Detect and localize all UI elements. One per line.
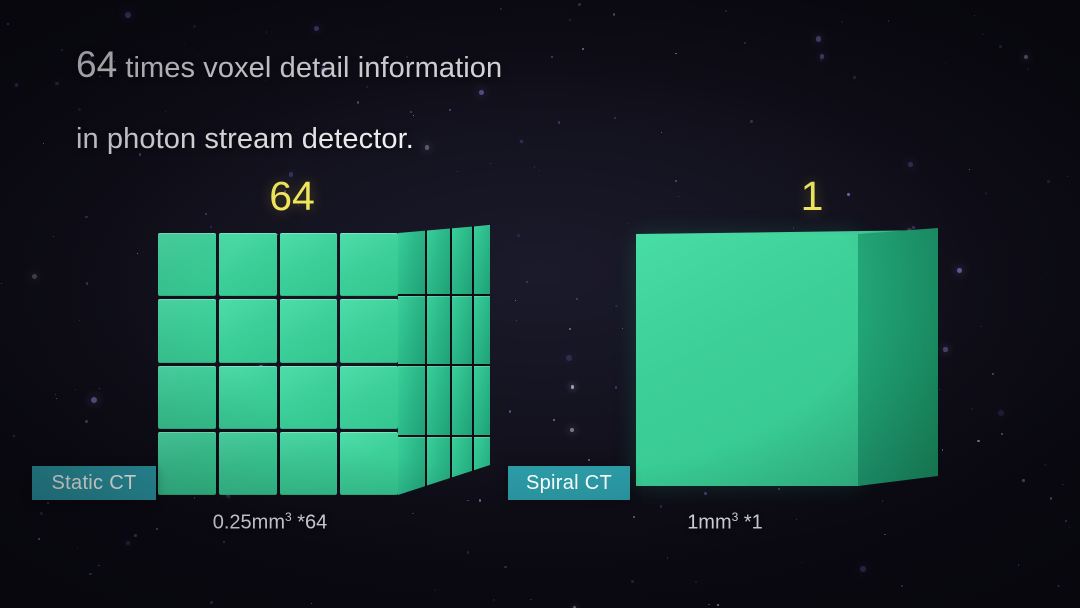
background-particle (56, 398, 57, 399)
background-particle (675, 180, 678, 183)
page-title: 64 times voxel detail information in pho… (76, 32, 696, 172)
voxel-cell-side (452, 366, 471, 435)
background-particle (622, 328, 623, 329)
headline-line-2: in photon stream detector. (76, 106, 696, 172)
background-particle (53, 236, 55, 238)
background-particle (820, 59, 822, 61)
background-particle (566, 355, 572, 361)
background-particle (98, 565, 99, 566)
background-particle (77, 547, 78, 548)
background-particle (1057, 585, 1060, 588)
background-particle (999, 45, 1002, 48)
caption-left: 0.25mm3 *64 (170, 510, 370, 535)
background-particle (530, 599, 532, 601)
voxel-cell-side (474, 437, 490, 506)
background-particle (998, 410, 1004, 416)
background-particle (89, 573, 92, 576)
background-particle (61, 49, 63, 51)
voxel-cell-side (452, 296, 471, 365)
background-particle (99, 388, 100, 389)
background-particle (992, 373, 994, 375)
voxel-cell-front (158, 432, 216, 495)
voxel-cell-front (280, 432, 338, 495)
background-particle (750, 120, 753, 123)
voxel-cell-front (158, 366, 216, 429)
voxel-cell-side (452, 437, 471, 506)
voxel-count-right: 1 (757, 173, 867, 220)
background-particle (553, 419, 555, 421)
background-particle (1022, 479, 1025, 482)
background-particle (613, 13, 616, 16)
background-particle (223, 541, 225, 543)
background-particle (678, 196, 679, 197)
background-particle (86, 282, 88, 284)
background-particle (985, 192, 988, 195)
voxel-cell-front (340, 233, 398, 296)
background-particle (1062, 484, 1064, 486)
voxel-cell-side (398, 225, 425, 294)
background-particle (578, 3, 581, 6)
background-particle (570, 428, 575, 433)
background-particle (884, 534, 886, 536)
background-particle (1053, 526, 1054, 527)
background-particle (156, 528, 158, 530)
background-particle (500, 8, 503, 11)
background-particle (79, 320, 81, 322)
background-particle (860, 566, 866, 572)
background-particle (40, 512, 43, 515)
background-particle (193, 25, 196, 28)
voxel-cell-side (398, 437, 425, 506)
spiral-ct-voxel-cube (630, 228, 950, 508)
background-particle (314, 26, 319, 31)
voxel-cell-side (427, 296, 450, 365)
background-particle (708, 604, 710, 606)
background-particle (1067, 176, 1069, 178)
headline-emphasis-number: 64 (76, 44, 117, 85)
background-particle (1041, 278, 1042, 279)
voxel-cell-side (452, 225, 471, 294)
background-particle (977, 440, 980, 443)
background-particle (493, 599, 495, 601)
background-particle (627, 223, 628, 224)
voxel-cell-front (219, 299, 277, 362)
background-particle (969, 169, 971, 171)
badge-spiral-ct[interactable]: Spiral CT (508, 466, 630, 500)
background-particle (981, 326, 982, 327)
background-particle (210, 601, 213, 604)
background-particle (1050, 497, 1052, 499)
background-particle (47, 502, 49, 504)
cube-side-face-grid (398, 225, 490, 505)
background-particle (311, 603, 312, 604)
background-particle (725, 10, 727, 12)
caption-left-exponent: 3 (285, 510, 292, 524)
background-particle (1001, 433, 1003, 435)
caption-right: 1mm3 *1 (625, 510, 825, 535)
headline-line-1-text: times voxel detail information (117, 52, 502, 84)
background-particle (13, 435, 15, 437)
background-particle (957, 268, 962, 273)
background-particle (516, 320, 517, 321)
background-particle (125, 12, 131, 18)
background-particle (1024, 55, 1028, 59)
cube-side-face (858, 228, 938, 503)
background-particle (971, 408, 973, 410)
voxel-cell-side (398, 296, 425, 365)
background-particle (569, 328, 572, 331)
background-particle (695, 581, 696, 582)
background-particle (15, 83, 19, 87)
background-particle (615, 386, 617, 388)
background-particle (91, 397, 97, 403)
background-particle (467, 551, 469, 553)
background-particle (517, 234, 520, 237)
background-particle (1027, 68, 1029, 70)
static-ct-voxel-cube (150, 225, 500, 515)
caption-right-value: 1mm (687, 512, 731, 534)
background-particle (504, 566, 507, 569)
background-particle (974, 15, 975, 16)
background-particle (982, 33, 984, 35)
background-particle (85, 420, 88, 423)
background-particle (576, 298, 578, 300)
voxel-cell-front (219, 432, 277, 495)
background-particle (801, 562, 802, 563)
background-particle (816, 36, 822, 42)
background-particle (571, 385, 575, 389)
background-particle (631, 580, 634, 583)
caption-right-multiplier: *1 (744, 512, 763, 534)
background-particle (1047, 180, 1050, 183)
background-particle (126, 541, 130, 545)
background-particle (526, 281, 528, 283)
background-particle (55, 82, 59, 86)
background-particle (205, 213, 207, 215)
background-particle (1044, 464, 1046, 466)
voxel-cell-side (427, 437, 450, 506)
background-particle (888, 20, 890, 22)
background-particle (38, 538, 41, 541)
background-particle (717, 604, 719, 606)
background-particle (615, 305, 618, 308)
background-particle (85, 216, 88, 219)
voxel-count-left: 64 (237, 173, 347, 220)
background-particle (569, 19, 571, 21)
caption-right-exponent: 3 (732, 510, 739, 524)
background-particle (588, 459, 590, 461)
background-particle (820, 54, 825, 59)
caption-left-multiplier: *64 (297, 512, 327, 534)
background-particle (1, 283, 2, 284)
background-particle (515, 300, 516, 301)
background-particle (945, 63, 946, 64)
voxel-cell-front (158, 233, 216, 296)
background-particle (55, 394, 56, 395)
voxel-cell-side (427, 225, 450, 294)
badge-static-ct[interactable]: Static CT (32, 466, 156, 500)
background-particle (434, 589, 436, 591)
background-particle (509, 410, 512, 413)
background-particle (75, 389, 76, 390)
voxel-cell-front (340, 299, 398, 362)
voxel-cell-front (340, 432, 398, 495)
voxel-cell-front (280, 366, 338, 429)
voxel-cell-front (158, 299, 216, 362)
background-particle (853, 76, 856, 79)
caption-left-value: 0.25mm (213, 512, 285, 534)
voxel-cell-side (474, 225, 490, 294)
background-particle (1065, 520, 1067, 522)
background-particle (7, 23, 9, 25)
slide-canvas: 64 times voxel detail information in pho… (0, 0, 1080, 608)
voxel-cell-side (427, 366, 450, 435)
background-particle (1069, 527, 1070, 528)
background-particle (908, 162, 913, 167)
voxel-cell-front (340, 366, 398, 429)
background-particle (1018, 564, 1020, 566)
voxel-cell-side (474, 296, 490, 365)
voxel-cell-front (280, 233, 338, 296)
voxel-cell-front (219, 233, 277, 296)
headline-line-1: 64 times voxel detail information (76, 32, 696, 106)
cube-front-face-grid (158, 233, 398, 495)
background-particle (901, 585, 903, 587)
background-particle (841, 21, 843, 23)
background-particle (134, 534, 137, 537)
background-particle (744, 42, 746, 44)
background-particle (32, 274, 37, 279)
background-particle (137, 253, 138, 254)
cube-front-face (636, 234, 860, 486)
background-particle (43, 143, 44, 144)
voxel-cell-front (280, 299, 338, 362)
voxel-cell-side (398, 366, 425, 435)
voxel-cell-side (474, 366, 490, 435)
voxel-cell-front (219, 366, 277, 429)
background-particle (667, 557, 669, 559)
